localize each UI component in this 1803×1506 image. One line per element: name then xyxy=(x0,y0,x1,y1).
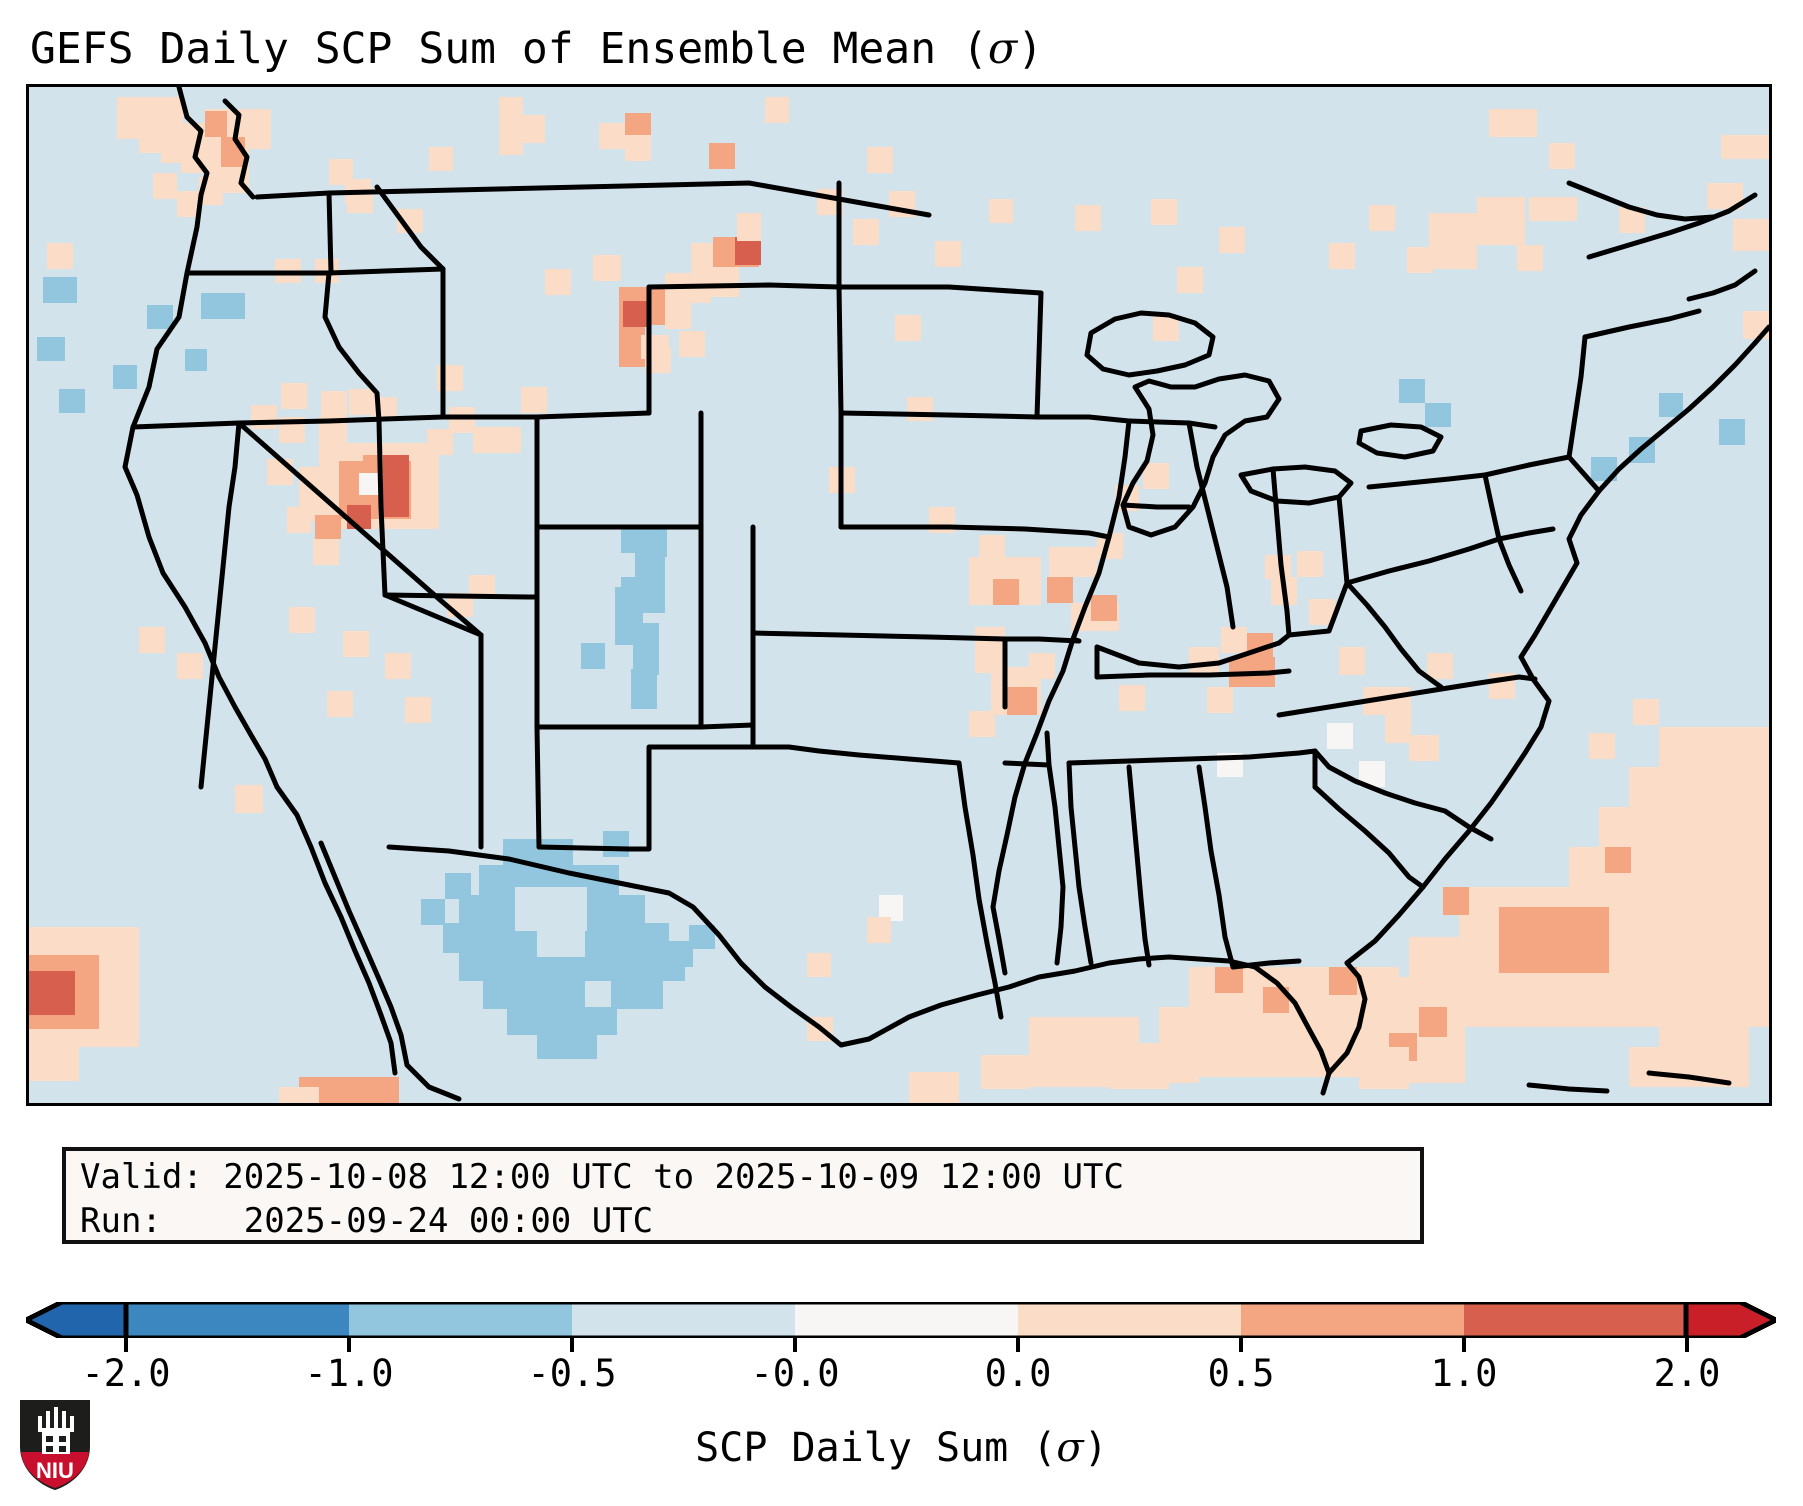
colorbar-tick-label-6: 1.0 xyxy=(1431,1352,1498,1395)
colorbar-axis-label: SCP Daily Sum (σ) xyxy=(0,1425,1803,1471)
colorbar-tick-label-0: -2.0 xyxy=(81,1352,170,1395)
sigma-glyph: σ xyxy=(988,24,1017,74)
tick-marks xyxy=(0,1338,1803,1354)
colorbar-tick-label-3: -0.0 xyxy=(750,1352,839,1395)
colorbar-tick-label-4: 0.0 xyxy=(985,1352,1052,1395)
colorbar-label-close-paren: ) xyxy=(1084,1425,1108,1471)
colorbar-ticks: -2.0 -1.0 -0.5 -0.0 0.0 0.5 1.0 2.0 xyxy=(0,1338,1803,1398)
colorbar-tick-label-7: 2.0 xyxy=(1654,1352,1721,1395)
title-close-paren: ) xyxy=(1017,24,1043,74)
niu-logo-text: NIU xyxy=(36,1458,74,1483)
map-plot xyxy=(29,87,1769,1103)
map-axes[interactable] xyxy=(26,84,1772,1106)
niu-shield-icon: NIU xyxy=(16,1396,94,1494)
forecast-info-box: Valid: 2025-10-08 12:00 UTC to 2025-10-0… xyxy=(62,1147,1424,1244)
figure-canvas: GEFS Daily SCP Sum of Ensemble Mean (σ) xyxy=(0,0,1803,1506)
colorbar-tick-label-1: -1.0 xyxy=(304,1352,393,1395)
valid-time-line: Valid: 2025-10-08 12:00 UTC to 2025-10-0… xyxy=(80,1155,1406,1199)
page-title: GEFS Daily SCP Sum of Ensemble Mean (σ) xyxy=(30,18,1530,80)
colorbar-tick-label-2: -0.5 xyxy=(527,1352,616,1395)
title-text: GEFS Daily SCP Sum of Ensemble Mean ( xyxy=(30,24,988,74)
colorbar-gradient xyxy=(26,1302,1776,1338)
niu-logo: NIU xyxy=(16,1396,94,1494)
run-time-line: Run: 2025-09-24 00:00 UTC xyxy=(80,1199,1406,1243)
colorbar[interactable] xyxy=(26,1302,1776,1338)
sigma-glyph: σ xyxy=(1056,1425,1083,1471)
colorbar-tick-label-5: 0.5 xyxy=(1208,1352,1275,1395)
colorbar-label-text: SCP Daily Sum ( xyxy=(695,1425,1056,1471)
